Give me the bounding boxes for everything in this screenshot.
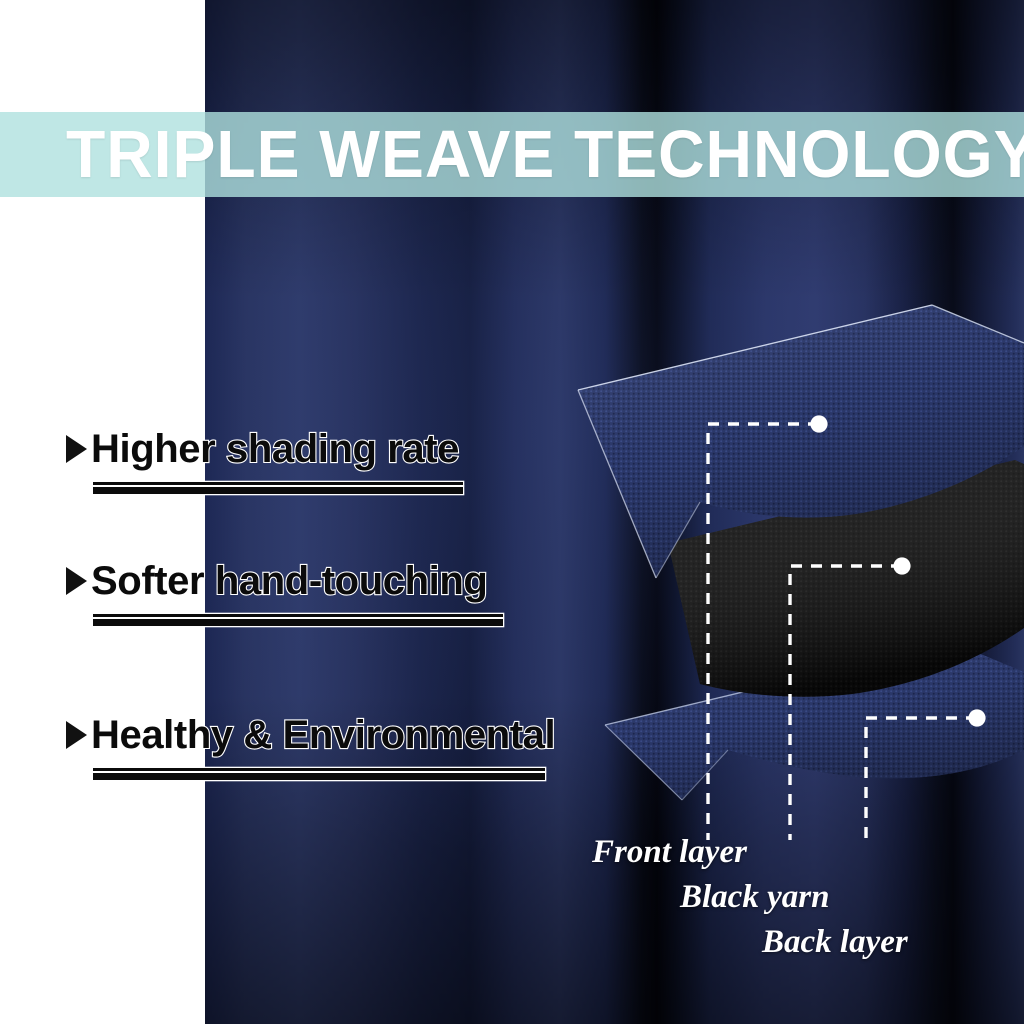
feature-label: Healthy & Environmental	[91, 714, 555, 756]
underline-thin	[93, 768, 545, 771]
feature-underline	[93, 768, 545, 779]
feature-underline	[93, 482, 463, 493]
callout-dot-icon	[810, 415, 827, 432]
underline-thick	[93, 773, 545, 780]
feature-label: Higher shading rate	[91, 428, 459, 470]
underline-thin	[93, 482, 463, 485]
feature-item-softer-hand-touching: Softer hand-touching	[66, 560, 503, 625]
feature-underline	[93, 614, 503, 625]
triangle-right-icon	[66, 435, 87, 463]
feature-label: Softer hand-touching	[91, 560, 487, 602]
callout-label-black-yarn: Black yarn	[680, 881, 829, 914]
title-banner: TRIPLE WEAVE TECHNOLOGY	[0, 112, 1024, 197]
feature-item-higher-shading-rate: Higher shading rate	[66, 428, 463, 493]
feature-item-healthy-environmental: Healthy & Environmental	[66, 714, 555, 779]
underline-thin	[93, 614, 503, 617]
callout-dot-icon	[968, 709, 985, 726]
page-title: TRIPLE WEAVE TECHNOLOGY	[66, 121, 1024, 188]
infographic-canvas: Front layer Black yarn Back layer Higher…	[0, 0, 1024, 1024]
triangle-right-icon	[66, 567, 87, 595]
underline-thick	[93, 619, 503, 626]
triangle-right-icon	[66, 721, 87, 749]
callout-dot-icon	[893, 557, 910, 574]
underline-thick	[93, 487, 463, 494]
fabric-layer-diagram	[560, 280, 1024, 840]
callout-label-back-layer: Back layer	[762, 926, 908, 959]
callout-label-front-layer: Front layer	[592, 836, 747, 869]
